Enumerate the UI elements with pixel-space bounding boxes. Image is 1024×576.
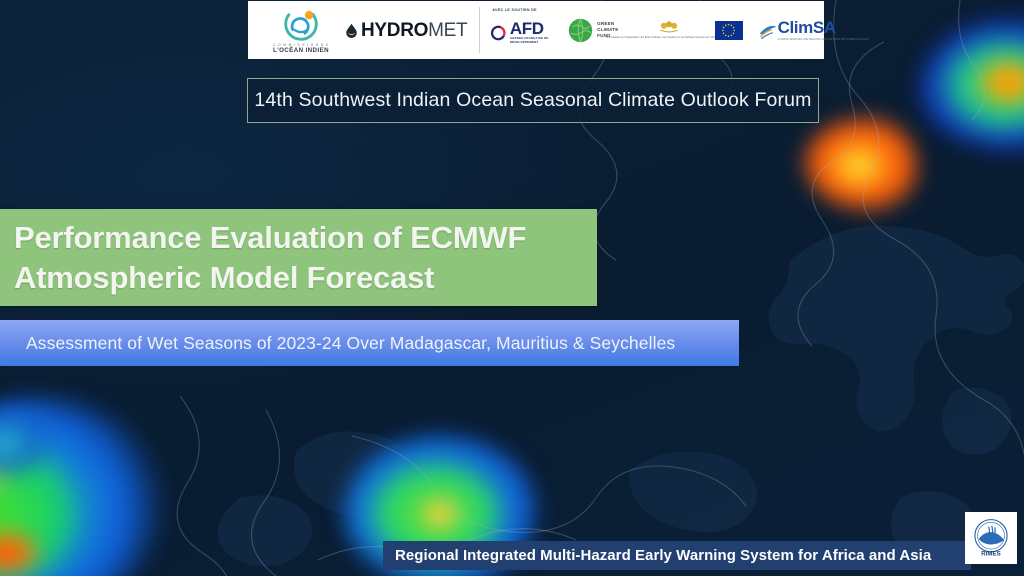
sponsor-logo-strip: C O M M I S S I O N D E L'OCÉAN INDIEN H… [248, 1, 824, 59]
climsa-subtitle: CLIMATE SERVICES AND RELATED APPLICATION… [778, 38, 869, 41]
indian-ocean-commission-logo: C O M M I S S I O N D E L'OCÉAN INDIEN [266, 7, 336, 54]
oacps-caption: Une initiative de l'Organisation des Éta… [606, 36, 732, 39]
afd-ring-icon [490, 20, 507, 46]
green-climate-fund-globe-icon [567, 17, 594, 44]
ioc-caption-main: L'OCÉAN INDIEN [273, 47, 329, 54]
afd-subtitle: AGENCE FRANÇAISE DE DÉVELOPPEMENT [510, 37, 553, 44]
climsa-name: ClimSA [778, 19, 869, 36]
footer-title: Regional Integrated Multi-Hazard Early W… [395, 547, 931, 564]
footer-bar: Regional Integrated Multi-Hazard Early W… [383, 541, 971, 570]
slide-title-block: Performance Evaluation of ECMWF Atmosphe… [0, 209, 597, 306]
hydromet-logo: HYDROMET [344, 21, 467, 40]
slide-subtitle-block: Assessment of Wet Seasons of 2023-24 Ove… [0, 320, 739, 366]
logo-group-right: AVEC LE SOUTIEN DE AFD AGENCE FRANÇAISE … [480, 1, 875, 59]
slide-title-line-2: Atmospheric Model Forecast [14, 258, 597, 297]
oacps-logo: Une initiative de l'Organisation des Éta… [633, 20, 705, 39]
hydromet-droplet-icon [344, 23, 359, 38]
hydromet-wordmark: HYDROMET [361, 21, 467, 40]
afd-text-block: AFD AGENCE FRANÇAISE DE DÉVELOPPEMENT [510, 21, 553, 44]
rimes-emblem-icon: RIMES [968, 515, 1014, 561]
eu-stars-icon [720, 22, 737, 39]
eu-flag-icon [715, 21, 743, 40]
presentation-slide: C O M M I S S I O N D E L'OCÉAN INDIEN H… [0, 0, 1024, 576]
rimes-wordmark: RIMES [981, 551, 1000, 558]
climsa-text-block: ClimSA CLIMATE SERVICES AND RELATED APPL… [778, 19, 869, 41]
hydromet-bold: HYDRO [361, 20, 428, 41]
rimes-logo: RIMES [965, 512, 1017, 564]
hydromet-light: MET [428, 20, 467, 41]
climsa-logo: ClimSA CLIMATE SERVICES AND RELATED APPL… [757, 19, 869, 41]
logo-group-left: C O M M I S S I O N D E L'OCÉAN INDIEN H… [248, 1, 479, 59]
support-label: AVEC LE SOUTIEN DE [492, 8, 537, 12]
slide-subtitle: Assessment of Wet Seasons of 2023-24 Ove… [26, 333, 675, 354]
european-union-logo [715, 21, 743, 40]
ioc-spiral-icon [284, 7, 318, 41]
forum-title: 14th Southwest Indian Ocean Seasonal Cli… [254, 89, 811, 112]
afd-logo: AFD AGENCE FRANÇAISE DE DÉVELOPPEMENT [490, 20, 553, 46]
oacps-icon [658, 20, 680, 33]
slide-title-line-1: Performance Evaluation of ECMWF [14, 218, 597, 257]
climsa-icon [757, 20, 778, 41]
forum-banner: 14th Southwest Indian Ocean Seasonal Cli… [247, 78, 819, 123]
afd-name: AFD [510, 21, 553, 37]
